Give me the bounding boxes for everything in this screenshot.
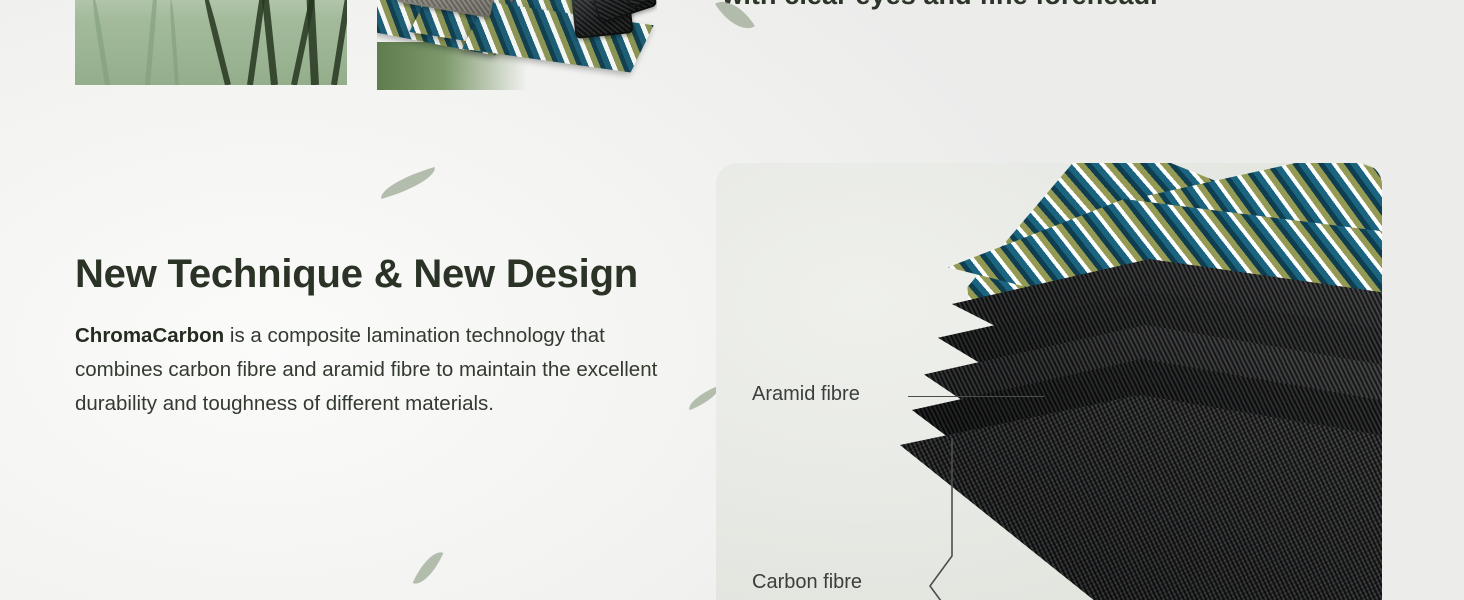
leader-line-aramid bbox=[908, 396, 1044, 397]
feature-copy-block: New Technique & New Design ChromaCarbon … bbox=[75, 252, 690, 421]
label-aramid-fibre: Aramid fibre bbox=[752, 383, 860, 406]
leaf-decoration-icon bbox=[413, 546, 444, 589]
watch-band-tile bbox=[377, 0, 657, 85]
previous-section-headline-text: with clear eyes and fine forehead. bbox=[722, 0, 1158, 11]
label-carbon-fibre: Carbon fibre bbox=[752, 571, 862, 594]
page-title: New Technique & New Design bbox=[75, 252, 690, 297]
brand-name: ChromaCarbon bbox=[75, 324, 224, 347]
fibre-diagram-card: Aramid fibre Carbon fibre bbox=[716, 163, 1382, 600]
product-feature-page: with clear eyes and fine forehead. bbox=[0, 0, 1464, 600]
fibre-layer-stack bbox=[716, 163, 1382, 600]
nature-photo-tile bbox=[75, 0, 347, 85]
leaf-decoration-icon bbox=[377, 167, 439, 199]
leader-line-carbon bbox=[906, 438, 956, 600]
feature-description: ChromaCarbon is a composite lamination t… bbox=[75, 319, 680, 421]
